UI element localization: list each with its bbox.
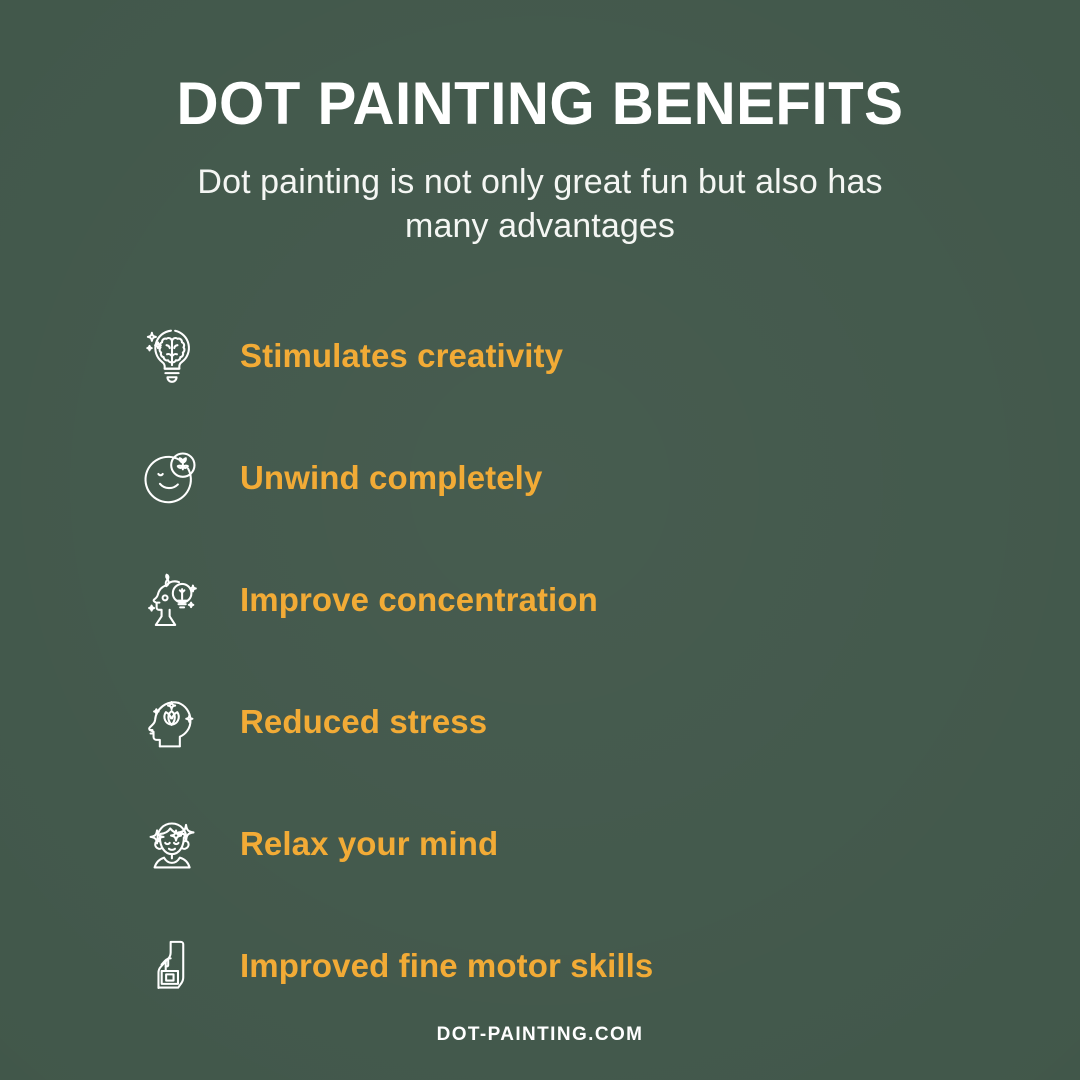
benefit-label: Improved fine motor skills bbox=[240, 949, 653, 982]
benefit-label: Stimulates creativity bbox=[240, 339, 563, 372]
relaxed-face-stars-icon bbox=[136, 805, 208, 881]
website-url: DOT-PAINTING.COM bbox=[437, 1024, 644, 1045]
head-profile-lightbulb-icon bbox=[136, 561, 208, 637]
benefit-label: Improve concentration bbox=[240, 583, 598, 616]
smiling-face-flower-icon bbox=[136, 439, 208, 515]
poster-header: DOT PAINTING BENEFITS Dot painting is no… bbox=[0, 0, 1080, 248]
benefit-item: Improve concentration bbox=[136, 538, 1080, 660]
page-subtitle: Dot painting is not only great fun but a… bbox=[155, 161, 925, 248]
benefit-label: Unwind completely bbox=[240, 461, 542, 494]
infographic-poster: DOT PAINTING BENEFITS Dot painting is no… bbox=[0, 0, 1080, 1080]
benefit-item: Stimulates creativity bbox=[136, 294, 1080, 416]
poster-footer: DOT-PAINTING.COM bbox=[0, 1024, 1080, 1046]
head-lotus-icon bbox=[136, 683, 208, 759]
benefit-item: Unwind completely bbox=[136, 416, 1080, 538]
benefits-list: Stimulates creativity Unwind completely bbox=[0, 294, 1080, 1026]
benefit-item: Reduced stress bbox=[136, 660, 1080, 782]
hand-holding-block-icon bbox=[136, 927, 208, 1003]
page-title: DOT PAINTING BENEFITS bbox=[16, 72, 1064, 135]
brain-lightbulb-icon bbox=[136, 317, 208, 393]
benefit-label: Reduced stress bbox=[240, 705, 487, 738]
benefit-item: Relax your mind bbox=[136, 782, 1080, 904]
benefit-label: Relax your mind bbox=[240, 827, 498, 860]
benefit-item: Improved fine motor skills bbox=[136, 904, 1080, 1026]
